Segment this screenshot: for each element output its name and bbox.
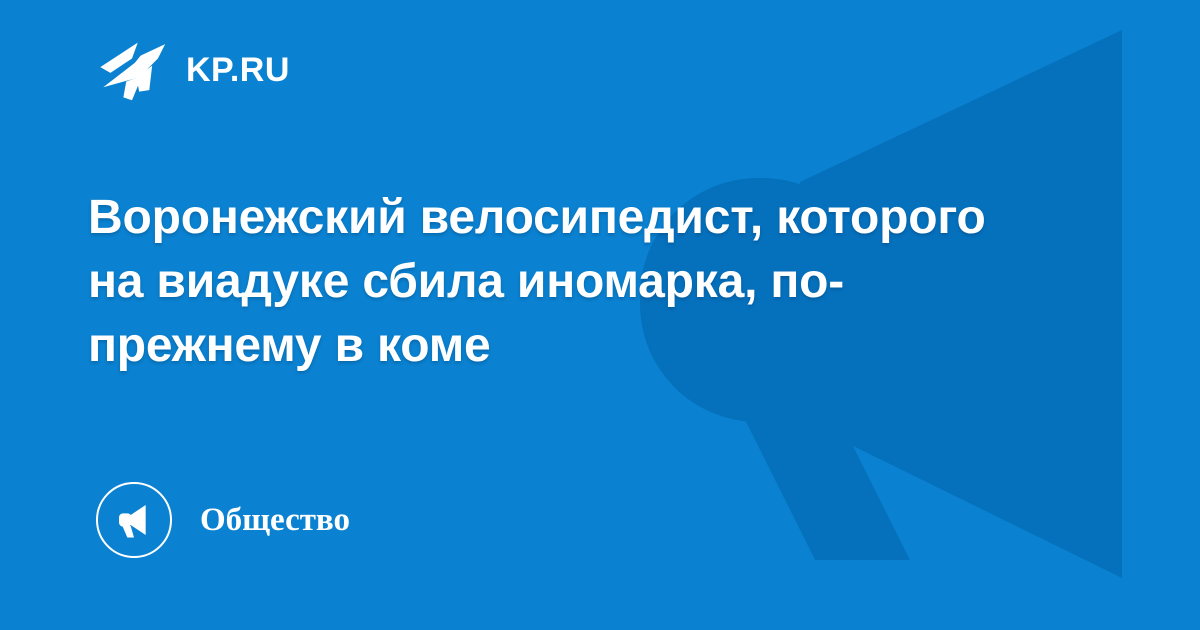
brand-logo[interactable]: KP.RU xyxy=(96,34,290,106)
brand-name: KP.RU xyxy=(186,53,290,87)
share-card: KP.RU Воронежский велосипедист, которого… xyxy=(0,0,1200,630)
page-title: Воронежский велосипедист, которого на ви… xyxy=(88,186,1038,377)
megaphone-icon xyxy=(114,500,154,540)
swallow-bird-icon xyxy=(96,34,168,106)
category-icon-circle xyxy=(96,482,172,558)
category-badge[interactable]: Общество xyxy=(96,482,350,558)
category-label: Общество xyxy=(200,504,350,537)
